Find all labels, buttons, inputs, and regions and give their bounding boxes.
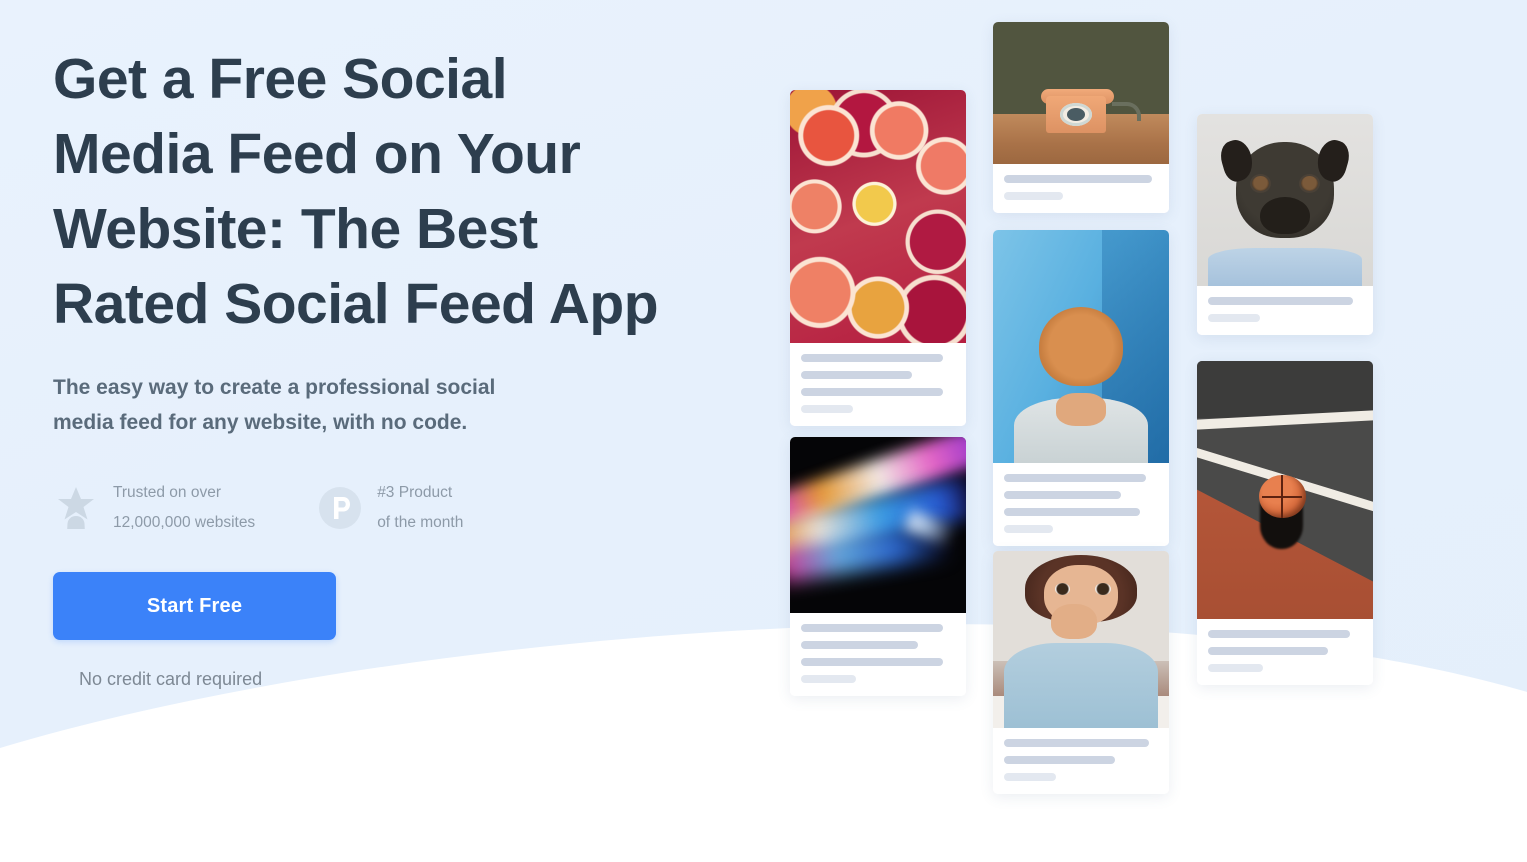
feed-card-basketball-body xyxy=(1197,619,1373,685)
trust-badge-ph-line2: of the month xyxy=(377,508,463,538)
feed-card-telephone-image xyxy=(993,22,1169,164)
feed-card-basketball[interactable] xyxy=(1197,361,1373,685)
feed-card-kid-body xyxy=(993,728,1169,794)
feed-card-lights[interactable] xyxy=(790,437,966,696)
feed-card-citrus-image xyxy=(790,90,966,343)
trust-badge-websites: Trusted on over 12,000,000 websites xyxy=(53,478,255,538)
feed-card-lights-image xyxy=(790,437,966,613)
feed-card-kid[interactable] xyxy=(993,551,1169,794)
feed-card-woman-image xyxy=(993,230,1169,463)
feed-card-woman-body xyxy=(993,463,1169,546)
feed-card-citrus-body xyxy=(790,343,966,426)
feed-card-basketball-image xyxy=(1197,361,1373,619)
feed-card-telephone-body xyxy=(993,164,1169,213)
trust-badges: Trusted on over 12,000,000 websites #3 P… xyxy=(53,478,673,538)
feed-card-lights-body xyxy=(790,613,966,696)
hero-section: Get a Free Social Media Feed on Your Web… xyxy=(0,0,1527,862)
trust-badge-websites-line2: 12,000,000 websites xyxy=(113,508,255,538)
trust-badge-ph-line1: #3 Product xyxy=(377,478,463,508)
feed-card-citrus[interactable] xyxy=(790,90,966,426)
feed-card-telephone[interactable] xyxy=(993,22,1169,213)
hero-subtitle: The easy way to create a professional so… xyxy=(53,370,553,440)
feed-card-kid-image xyxy=(993,551,1169,728)
trust-badge-product-hunt-text: #3 Product of the month xyxy=(377,478,463,538)
trust-badge-product-hunt: #3 Product of the month xyxy=(317,478,463,538)
hero-copy: Get a Free Social Media Feed on Your Web… xyxy=(53,42,673,690)
page-title: Get a Free Social Media Feed on Your Web… xyxy=(53,42,673,342)
feed-card-woman[interactable] xyxy=(993,230,1169,546)
no-credit-card-note: No credit card required xyxy=(79,669,673,690)
product-hunt-icon xyxy=(317,485,363,531)
start-free-button[interactable]: Start Free xyxy=(53,572,336,640)
trust-badge-websites-text: Trusted on over 12,000,000 websites xyxy=(113,478,255,538)
trust-badge-websites-line1: Trusted on over xyxy=(113,478,255,508)
feed-card-pug-body xyxy=(1197,286,1373,335)
trophy-star-icon xyxy=(53,485,99,531)
feed-card-pug-image xyxy=(1197,114,1373,286)
feed-card-pug[interactable] xyxy=(1197,114,1373,335)
